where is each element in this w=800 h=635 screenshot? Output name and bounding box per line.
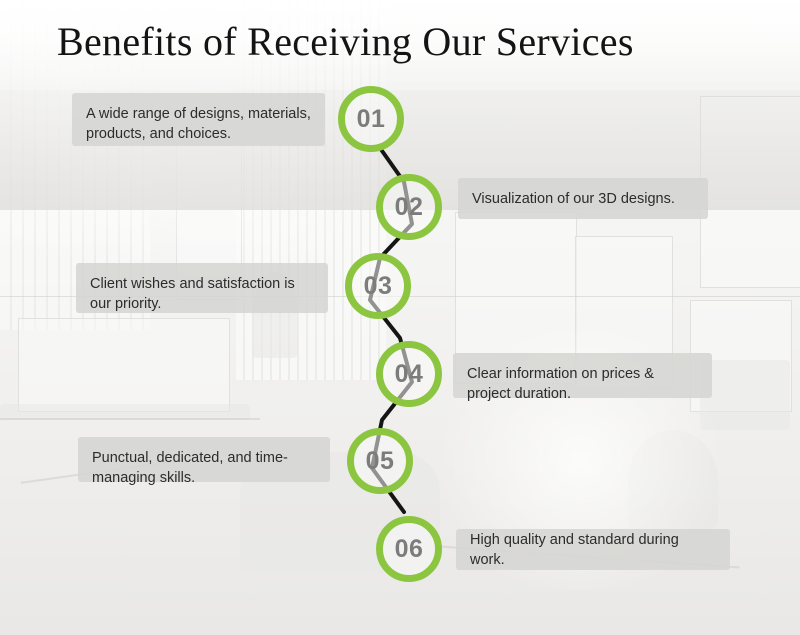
step-marker-03[interactable]: 03 [345, 253, 411, 319]
step-marker-02[interactable]: 02 [376, 174, 442, 240]
step-label-03: Client wishes and satisfaction is our pr… [76, 263, 328, 313]
step-text-04: Clear information on prices & project du… [467, 366, 654, 402]
infographic-canvas: Benefits of Receiving Our Services A wid… [0, 0, 800, 635]
step-text-03: Client wishes and satisfaction is our pr… [90, 276, 295, 312]
step-number-04: 04 [395, 362, 424, 387]
step-label-02: Visualization of our 3D designs. [458, 178, 708, 219]
step-label-04: Clear information on prices & project du… [453, 353, 712, 398]
step-label-06: High quality and standard during work. [456, 529, 730, 570]
step-number-03: 03 [364, 274, 393, 299]
step-number-01: 01 [357, 107, 386, 132]
step-number-02: 02 [395, 195, 424, 220]
step-number-05: 05 [366, 449, 395, 474]
step-text-05: Punctual, dedicated, and time-managing s… [92, 450, 288, 486]
step-marker-04[interactable]: 04 [376, 341, 442, 407]
step-text-02: Visualization of our 3D designs. [472, 189, 675, 209]
step-marker-01[interactable]: 01 [338, 86, 404, 152]
step-label-05: Punctual, dedicated, and time-managing s… [78, 437, 330, 482]
step-marker-05[interactable]: 05 [347, 428, 413, 494]
step-text-01: A wide range of designs, materials, prod… [86, 106, 311, 142]
step-text-06: High quality and standard during work. [470, 530, 716, 570]
step-label-01: A wide range of designs, materials, prod… [72, 93, 325, 146]
step-marker-06[interactable]: 06 [376, 516, 442, 582]
step-number-06: 06 [395, 537, 424, 562]
